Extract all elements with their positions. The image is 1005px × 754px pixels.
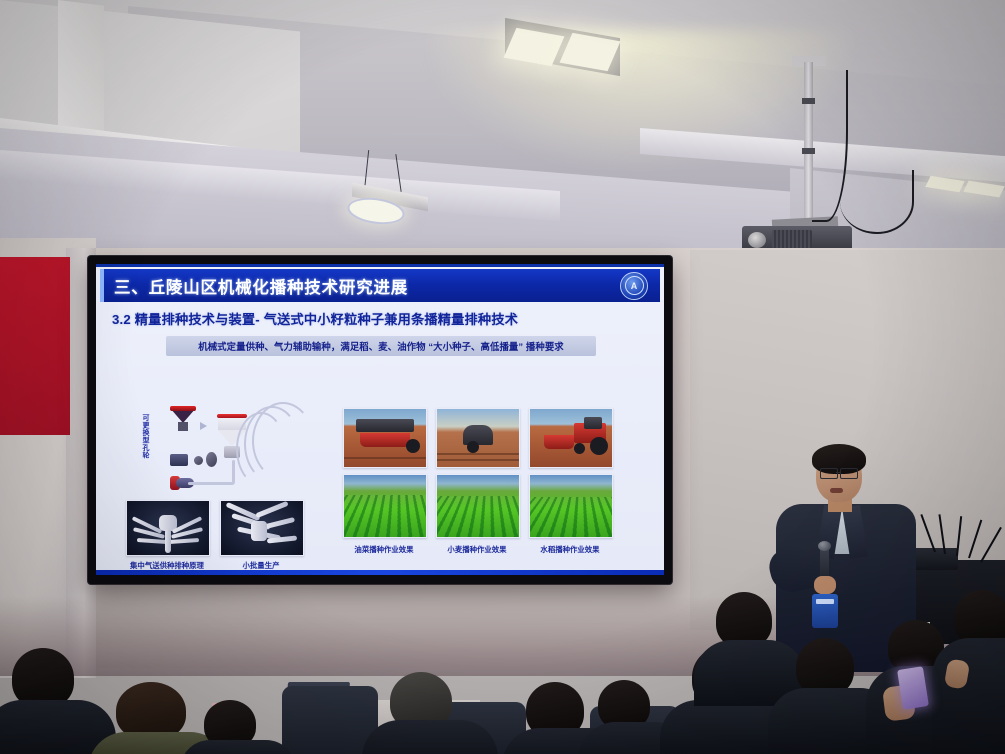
eyeglasses-left-lens-icon	[820, 468, 838, 479]
seed-metering-schematic: 可更换型孔轮	[140, 408, 315, 498]
photo-tubes-manifold	[126, 500, 210, 556]
photo-rapeseed	[343, 474, 427, 538]
tractor-rear-wheel	[590, 437, 608, 455]
caption-rapeseed: 油菜播种作业效果	[341, 544, 427, 555]
audience-member-3	[372, 672, 484, 754]
field-furrow-a	[344, 457, 426, 459]
red-hopper-rim	[170, 406, 196, 411]
air-duct-riser	[232, 460, 235, 484]
wall-mounted-display[interactable]: 三、丘陵山区机械化播种技术研究进展 A 3.2 精量排种技术与装置- 气送式中小…	[88, 256, 672, 584]
shoulders	[362, 720, 498, 754]
shoulders	[180, 740, 296, 754]
red-banner-panel	[0, 257, 70, 435]
photo-seeder-field	[343, 408, 427, 468]
caption-small-batch: 小批量生产	[220, 560, 302, 571]
crop-rows-c	[529, 497, 613, 538]
field-furrow-c	[437, 459, 519, 461]
presenter-hand	[814, 576, 836, 594]
handheld-microphone-icon	[820, 546, 829, 580]
tractor-implement	[544, 435, 574, 449]
seeder-wheel	[406, 439, 420, 453]
projector-vent	[772, 230, 812, 248]
eyeglasses-bridge-icon	[836, 472, 841, 473]
seeder-body	[356, 419, 414, 432]
slide-body: 3.2 精量排种技术与装置- 气送式中小籽粒种子兼用条播精量排种技术 机械式定量…	[96, 302, 664, 570]
slide-subtitle: 3.2 精量排种技术与装置- 气送式中小籽粒种子兼用条播精量排种技术	[112, 309, 650, 328]
slide-highlight-banner: 机械式定量供种、气力辅助输种，满足稻、麦、油作物 “大小种子、高低播量” 播种要…	[166, 336, 596, 356]
eyeglasses-right-lens-icon	[840, 468, 858, 479]
lecture-hall-photo: 三、丘陵山区机械化播种技术研究进展 A 3.2 精量排种技术与装置- 气送式中小…	[0, 0, 1005, 754]
red-hopper-outlet	[178, 422, 188, 431]
tractor-front-wheel	[574, 443, 585, 454]
seeder-tines	[360, 433, 410, 447]
diagram-vertical-label: 可更换型孔轮	[140, 414, 150, 459]
manifold-stem	[165, 529, 171, 553]
microphone-head-icon	[818, 541, 831, 551]
manifold-tube-3	[137, 538, 167, 544]
presentation-slide: 三、丘陵山区机械化播种技术研究进展 A 3.2 精量排种技术与装置- 气送式中小…	[96, 264, 664, 575]
university-emblem-icon: A	[620, 272, 648, 300]
slide-title-bar: 三、丘陵山区机械化播种技术研究进展 A	[100, 269, 660, 302]
projector-cable-loop-b	[840, 170, 914, 234]
presenter-mouth	[830, 488, 843, 493]
machine-body	[463, 425, 493, 445]
display-screen: 三、丘陵山区机械化播种技术研究进展 A 3.2 精量排种技术与装置- 气送式中小…	[96, 264, 664, 575]
slide-title: 三、丘陵山区机械化播种技术研究进展	[114, 274, 408, 298]
slide-top-strip	[96, 264, 664, 267]
photo-seeder-machine	[436, 408, 520, 468]
audience-member-1	[0, 648, 110, 754]
metering-disc-icon-b	[206, 452, 217, 467]
manifold-tubes	[127, 501, 209, 555]
crop-rows-b	[436, 496, 520, 538]
photo-wheat	[436, 474, 520, 538]
flow-arrow-icon	[200, 422, 207, 430]
tractor-cab	[584, 417, 602, 429]
photo-rice	[529, 474, 613, 538]
slide-title-accent	[100, 269, 104, 302]
shoulders	[932, 638, 1005, 754]
air-duct-horizontal	[188, 482, 234, 485]
assembly-tubes	[221, 501, 303, 555]
metering-disc-icon-a	[194, 456, 203, 465]
manifold-tube-6	[169, 538, 199, 544]
head	[12, 648, 74, 708]
white-hopper-rim	[217, 414, 247, 418]
emblem-inner-mark: A	[625, 276, 644, 295]
presenter-badge-line	[816, 599, 834, 604]
caption-rice: 水稻播种作业效果	[527, 544, 613, 555]
drive-motor-icon	[170, 454, 188, 466]
caption-wheat: 小麦播种作业效果	[434, 544, 520, 555]
photo-red-tractor	[529, 408, 613, 468]
assembly-hub	[251, 521, 267, 541]
slide-banner-text: 机械式定量供种、气力辅助输种，满足稻、麦、油作物 “大小种子、高低播量” 播种要…	[198, 339, 564, 353]
seed-delivery-tube-c	[252, 402, 314, 480]
caption-tubes-manifold: 集中气送供种排种原理	[114, 560, 220, 571]
audience-member-11	[186, 700, 286, 754]
photo-small-batch	[220, 500, 304, 556]
projector-lens	[748, 232, 766, 248]
machine-wheel	[467, 441, 479, 453]
field-furrow-b	[437, 453, 519, 455]
crop-rows-a	[343, 495, 427, 538]
assembly-tube-4	[255, 501, 288, 518]
